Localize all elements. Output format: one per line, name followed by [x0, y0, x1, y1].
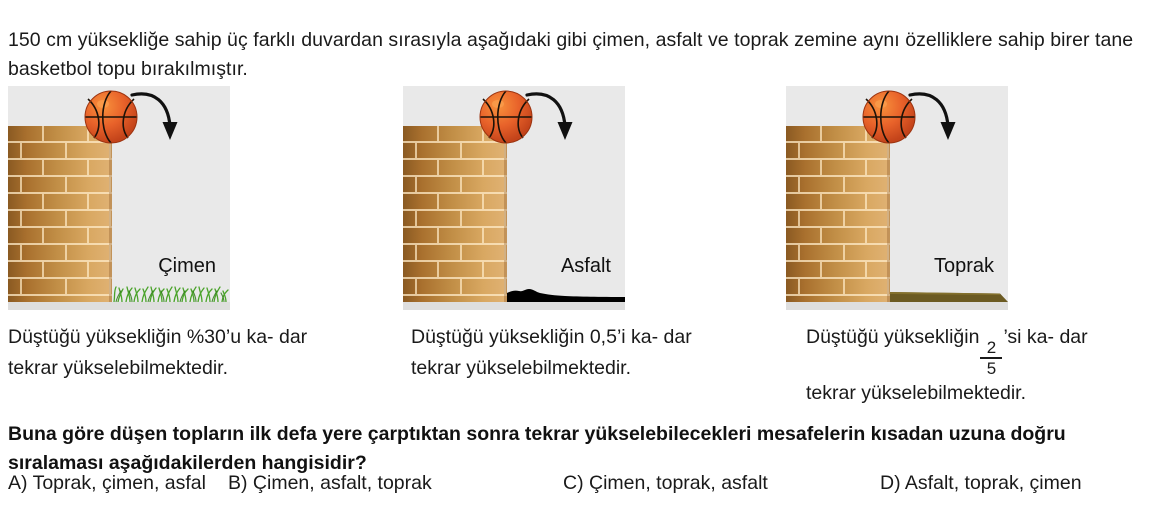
option-c-text: Çimen, toprak, asfalt	[589, 472, 768, 494]
curved-down-arrow-icon	[128, 88, 188, 146]
curved-down-arrow-icon	[906, 88, 966, 146]
fraction-denominator: 5	[987, 359, 996, 378]
answer-options: A) Toprak, çimen, asfal B) Çimen, asfalt…	[0, 472, 1152, 504]
worksheet-page: 150 cm yüksekliğe sahip üç farklı duvard…	[0, 0, 1152, 522]
brick-mortar-joints	[786, 126, 890, 302]
option-d-text: Asfalt, toprak, çimen	[905, 472, 1082, 494]
option-d[interactable]: D) Asfalt, toprak, çimen	[880, 472, 1082, 495]
option-a-letter: A)	[8, 472, 28, 494]
panel-floor-strip	[8, 302, 230, 310]
caption-cimen-line1: Düştüğü yüksekliğin %30’u ka-	[8, 326, 274, 348]
fraction-numerator: 2	[987, 339, 996, 357]
caption-toprak-tail: ’si ka-	[1003, 326, 1054, 348]
question-text: Buna göre düşen topların ilk defa yere ç…	[8, 420, 1148, 478]
figure-panel-toprak: Toprak	[786, 86, 1008, 310]
caption-toprak-lead: Düştüğü yüksekliğin	[806, 326, 979, 348]
option-b-text: Çimen, asfalt, toprak	[253, 472, 432, 494]
option-d-letter: D)	[880, 472, 901, 494]
caption-row: Düştüğü yüksekliğin %30’u ka- dar tekrar…	[0, 322, 1152, 392]
brick-wall	[8, 126, 112, 302]
asphalt-surface	[507, 286, 625, 302]
option-b[interactable]: B) Çimen, asfalt, toprak	[228, 472, 432, 495]
figure-panel-cimen: Çimen	[8, 86, 230, 310]
option-b-letter: B)	[228, 472, 248, 494]
soil-surface	[890, 291, 1008, 302]
option-c-letter: C)	[563, 472, 584, 494]
ground-label-asfalt: Asfalt	[561, 255, 611, 278]
figure-panel-asfalt: Asfalt	[403, 86, 625, 310]
intro-paragraph: 150 cm yüksekliğe sahip üç farklı duvard…	[8, 26, 1148, 84]
brick-mortar-joints	[403, 126, 507, 302]
ground-label-cimen: Çimen	[158, 255, 216, 278]
caption-cimen: Düştüğü yüksekliğin %30’u ka- dar tekrar…	[8, 322, 308, 384]
brick-wall	[786, 126, 890, 302]
option-c[interactable]: C) Çimen, toprak, asfalt	[563, 472, 768, 495]
caption-toprak: Düştüğü yüksekliğin25’si ka- dar tekrar …	[806, 322, 1106, 409]
grass-surface	[112, 284, 230, 302]
panel-floor-strip	[786, 302, 1008, 310]
option-a-text: Toprak, çimen, asfal	[33, 472, 206, 494]
brick-mortar-joints	[8, 126, 112, 302]
brick-wall	[403, 126, 507, 302]
caption-asfalt-line1: Düştüğü yüksekliğin 0,5’i ka-	[411, 326, 658, 348]
curved-down-arrow-icon	[523, 88, 583, 146]
ground-label-toprak: Toprak	[934, 255, 994, 278]
panel-floor-strip	[403, 302, 625, 310]
figure-row: Çimen	[0, 86, 1152, 310]
fraction-two-fifths: 25	[980, 339, 1002, 378]
option-a[interactable]: A) Toprak, çimen, asfal	[8, 472, 206, 495]
caption-asfalt: Düştüğü yüksekliğin 0,5’i ka- dar tekrar…	[411, 322, 711, 384]
